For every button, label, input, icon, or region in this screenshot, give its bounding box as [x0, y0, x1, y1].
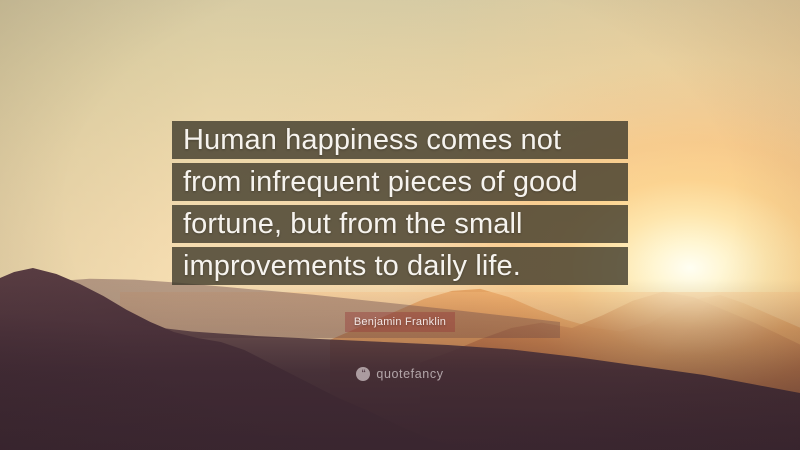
quote-poster: Human happiness comes not from infrequen… — [0, 0, 800, 450]
quote-line: Human happiness comes not — [172, 121, 628, 159]
quote-text-block: Human happiness comes not from infrequen… — [172, 121, 628, 285]
watermark: “ quotefancy — [0, 367, 800, 381]
author-name: Benjamin Franklin — [345, 312, 455, 332]
quote-line: improvements to daily life. — [172, 247, 628, 285]
author-attribution: Benjamin Franklin — [0, 312, 800, 332]
quote-line: from infrequent pieces of good — [172, 163, 628, 201]
quote-mark-icon: “ — [356, 367, 370, 381]
watermark-brand: quotefancy — [376, 367, 443, 381]
quote-line: fortune, but from the small — [172, 205, 628, 243]
